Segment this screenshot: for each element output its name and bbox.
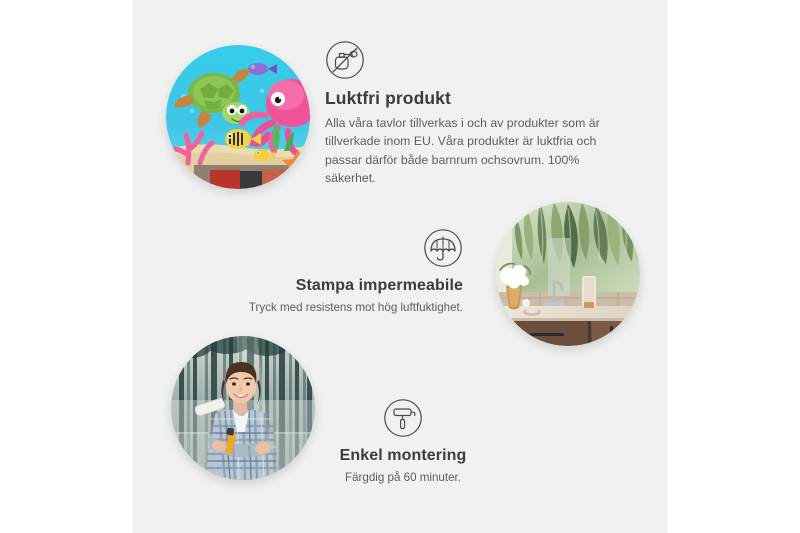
photo-underwater-scene	[166, 45, 310, 189]
feature-waterproof-print: Stampa impermeabile Tryck med resistens …	[208, 228, 463, 316]
feature-body: Alla våra tavlor tillverkas i och av pro…	[325, 114, 625, 188]
paint-roller-icon	[323, 398, 483, 442]
feature-title: Luktfri produkt	[325, 88, 625, 110]
feature-title: Stampa impermeabile	[208, 276, 463, 296]
feature-odour-free: Luktfri produkt Alla våra tavlor tillver…	[325, 40, 625, 188]
umbrella-icon	[208, 228, 463, 272]
no-odour-icon	[325, 40, 625, 84]
content-panel: Luktfri produkt Alla våra tavlor tillver…	[133, 0, 667, 533]
photo-bathroom-interior	[496, 202, 640, 346]
feature-banner: Luktfri produkt Alla våra tavlor tillver…	[0, 0, 800, 533]
photo-painter-forest	[171, 336, 315, 480]
feature-body: Färgdig på 60 minuter.	[323, 470, 483, 486]
feature-body: Tryck med resistens mot hög luftfuktighe…	[208, 300, 463, 316]
feature-title: Enkel montering	[323, 446, 483, 466]
feature-easy-assembly: Enkel montering Färgdig på 60 minuter.	[323, 398, 483, 486]
